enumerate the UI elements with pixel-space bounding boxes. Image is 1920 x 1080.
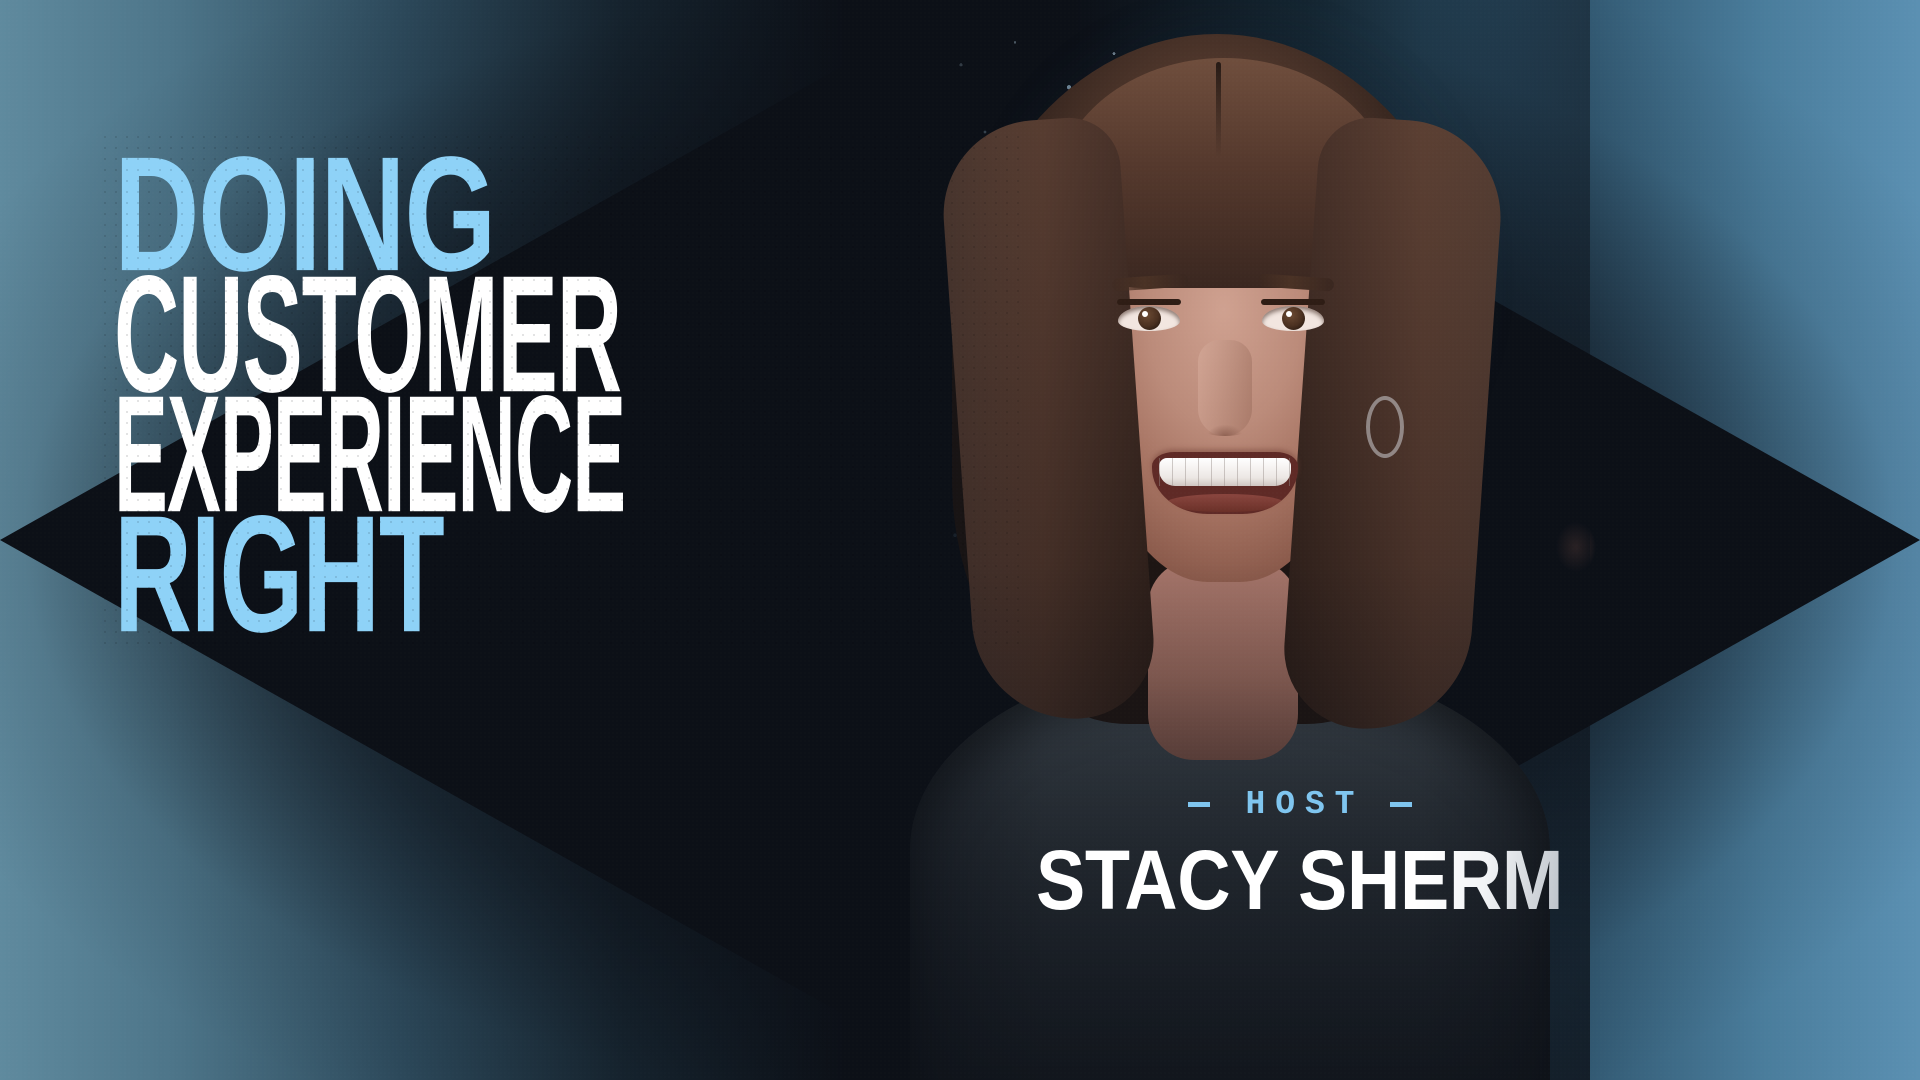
portrait-hoop-earring [1366, 396, 1404, 458]
portrait-teeth [1159, 458, 1291, 486]
portrait-iris-right [1282, 307, 1305, 330]
host-dash-right-icon [1390, 802, 1412, 807]
portrait-eye-left [1118, 306, 1180, 331]
portrait-neck [1148, 560, 1298, 760]
portrait-mouth [1152, 452, 1298, 514]
title-line-right: RIGHT [114, 503, 722, 644]
portrait-hair-part [1216, 62, 1221, 158]
show-title: DOING CUSTOMER EXPERIENCE RIGHT [114, 146, 1014, 642]
portrait-lower-lip [1166, 494, 1284, 512]
portrait-cheek-right [1548, 512, 1604, 582]
portrait-eyelid-right [1261, 299, 1325, 305]
host-label: HOST [1236, 786, 1365, 823]
podcast-cover-canvas: DOING CUSTOMER EXPERIENCE RIGHT HOST STA… [0, 0, 1920, 1080]
portrait-iris-left [1138, 307, 1161, 330]
host-label-row: HOST [1000, 786, 1600, 823]
portrait-eyelid-left [1117, 299, 1181, 305]
portrait-nose [1198, 340, 1252, 436]
host-name: STACY SHERMAN [1036, 838, 1564, 922]
portrait-eye-right [1262, 306, 1324, 331]
host-dash-left-icon [1188, 802, 1210, 807]
